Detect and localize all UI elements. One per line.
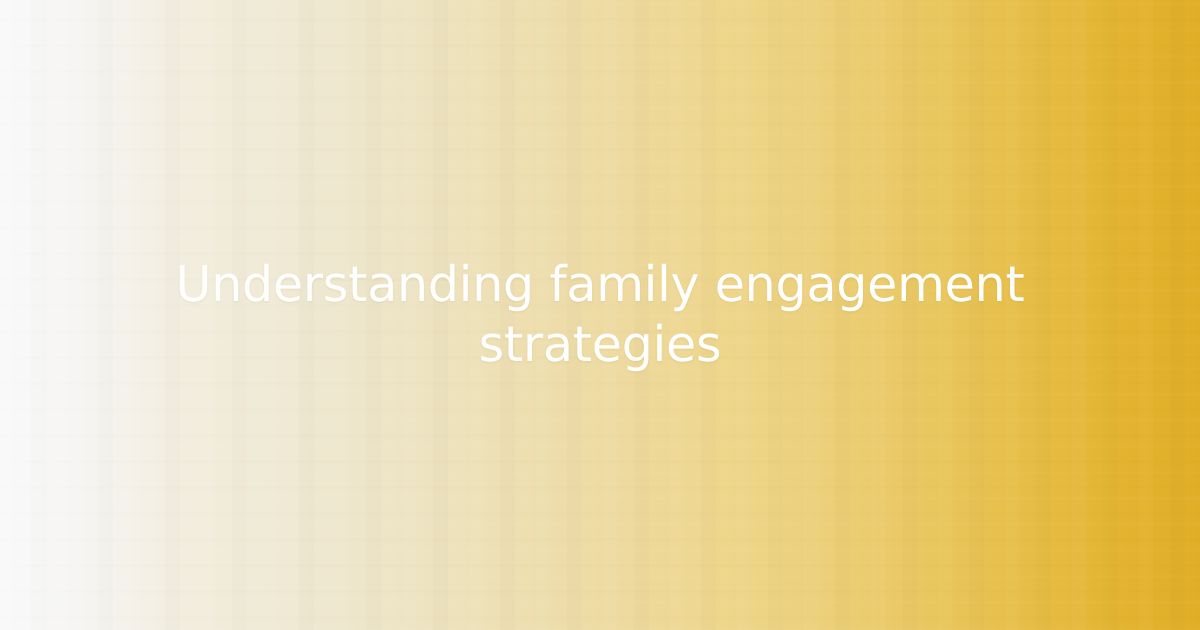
page-title: Understanding family engagement strategi… xyxy=(170,255,1030,375)
banner-card: Understanding family engagement strategi… xyxy=(0,0,1200,630)
headline-container: Understanding family engagement strategi… xyxy=(150,255,1050,375)
